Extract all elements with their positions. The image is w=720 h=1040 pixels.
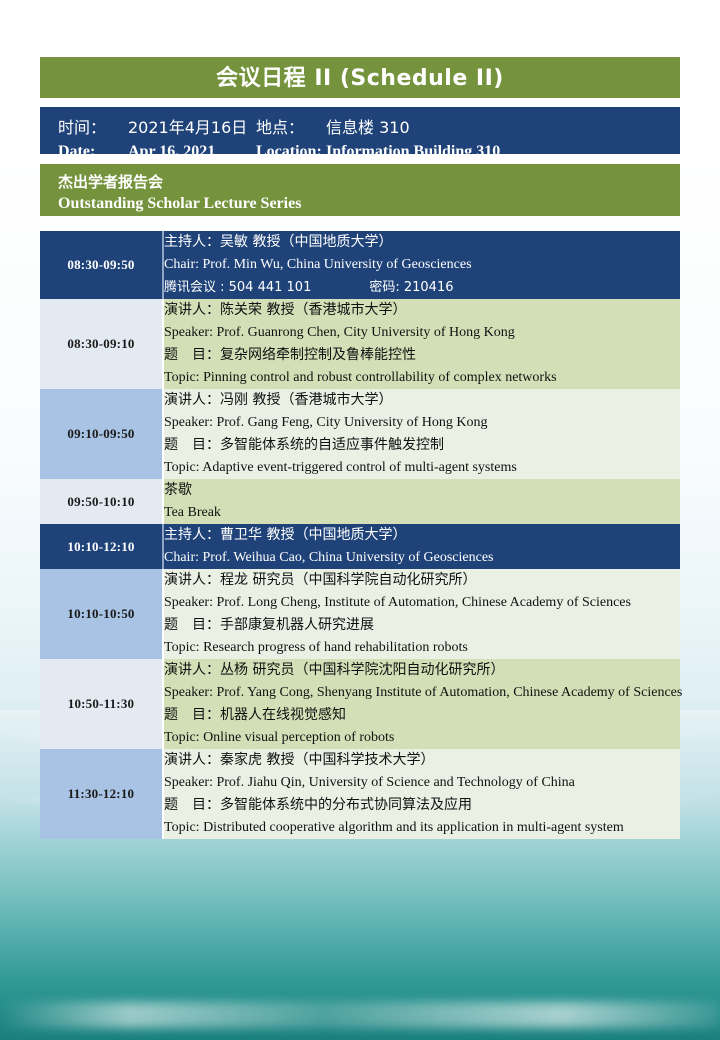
schedule-time-cell: 10:10-10:50	[40, 569, 163, 659]
schedule-detail-cell: 主持人：吴敏 教授（中国地质大学）Chair: Prof. Min Wu, Ch…	[163, 231, 680, 299]
schedule-detail-cell: 主持人：曹卫华 教授（中国地质大学）Chair: Prof. Weihua Ca…	[163, 524, 680, 569]
schedule-detail-cell: 演讲人：秦家虎 教授（中国科学技术大学）Speaker: Prof. Jiahu…	[163, 749, 680, 839]
detail-line-cn: 演讲人：秦家虎 教授（中国科学技术大学）	[164, 749, 680, 772]
date-label-en: Date:	[58, 140, 128, 164]
detail-line-en: Speaker: Prof. Guanrong Chen, City Unive…	[164, 322, 680, 344]
section-header-en: Outstanding Scholar Lecture Series	[58, 193, 662, 215]
schedule-row: 10:10-12:10主持人：曹卫华 教授（中国地质大学）Chair: Prof…	[40, 524, 680, 569]
schedule-table: 08:30-09:50主持人：吴敏 教授（中国地质大学）Chair: Prof.…	[40, 231, 680, 839]
detail-line-cn: 主持人：吴敏 教授（中国地质大学）	[164, 231, 680, 254]
section-header: 杰出学者报告会 Outstanding Scholar Lecture Seri…	[40, 164, 680, 216]
location-label-en: Location:	[256, 140, 326, 164]
detail-line-cn: 题 目：手部康复机器人研究进展	[164, 614, 680, 637]
schedule-time-cell: 09:50-10:10	[40, 479, 163, 524]
detail-line-en: Speaker: Prof. Long Cheng, Institute of …	[164, 592, 680, 614]
schedule-row: 10:10-10:50演讲人：程龙 研究员（中国科学院自动化研究所）Speake…	[40, 569, 680, 659]
detail-line-cn: 茶歇	[164, 479, 680, 502]
page-title-text: 会议日程 II (Schedule II)	[216, 66, 504, 91]
schedule-time-cell: 09:10-09:50	[40, 389, 163, 479]
schedule-time-cell: 10:50-11:30	[40, 659, 163, 749]
detail-line-cn: 演讲人：程龙 研究员（中国科学院自动化研究所）	[164, 569, 680, 592]
detail-line-cn: 题 目：多智能体系统的自适应事件触发控制	[164, 434, 680, 457]
detail-line-en: Topic: Distributed cooperative algorithm…	[164, 817, 680, 839]
detail-line-en: Speaker: Prof. Gang Feng, City Universit…	[164, 412, 680, 434]
watermark-foam	[0, 1002, 720, 1028]
detail-line-cn: 主持人：曹卫华 教授（中国地质大学）	[164, 524, 680, 547]
schedule-row: 11:30-12:10演讲人：秦家虎 教授（中国科学技术大学）Speaker: …	[40, 749, 680, 839]
schedule-time-cell: 11:30-12:10	[40, 749, 163, 839]
meeting-platform-label: 腾讯会议 : 504 441 101	[164, 280, 311, 295]
detail-line-en: Chair: Prof. Weihua Cao, China Universit…	[164, 547, 680, 569]
schedule-time-cell: 08:30-09:10	[40, 299, 163, 389]
schedule-row: 08:30-09:10演讲人：陈关荣 教授（香港城市大学）Speaker: Pr…	[40, 299, 680, 389]
schedule-page: 会议日程 II (Schedule II) 时间： 2021年4月16日 地点：…	[40, 0, 680, 839]
detail-line-cn: 题 目：复杂网络牵制控制及鲁棒能控性	[164, 344, 680, 367]
meta-row-english: Date: Apr 16, 2021 Location: Information…	[58, 140, 662, 164]
schedule-detail-cell: 演讲人：程龙 研究员（中国科学院自动化研究所）Speaker: Prof. Lo…	[163, 569, 680, 659]
detail-line-en: Topic: Online visual perception of robot…	[164, 727, 680, 749]
schedule-row: 09:50-10:10茶歇Tea Break	[40, 479, 680, 524]
schedule-row: 10:50-11:30演讲人：丛杨 研究员（中国科学院沈阳自动化研究所）Spea…	[40, 659, 680, 749]
date-label-cn: 时间：	[58, 116, 128, 140]
schedule-row: 09:10-09:50演讲人：冯刚 教授（香港城市大学）Speaker: Pro…	[40, 389, 680, 479]
meeting-info-line: 腾讯会议 : 504 441 101密码: 210416	[164, 276, 680, 299]
detail-line-cn: 题 目：多智能体系统中的分布式协同算法及应用	[164, 794, 680, 817]
meeting-password: 密码: 210416	[369, 280, 453, 295]
detail-line-en: Topic: Research progress of hand rehabil…	[164, 637, 680, 659]
detail-line-cn: 演讲人：陈关荣 教授（香港城市大学）	[164, 299, 680, 322]
schedule-detail-cell: 演讲人：丛杨 研究员（中国科学院沈阳自动化研究所）Speaker: Prof. …	[163, 659, 680, 749]
detail-line-cn: 演讲人：丛杨 研究员（中国科学院沈阳自动化研究所）	[164, 659, 680, 682]
detail-line-en: Tea Break	[164, 502, 680, 524]
page-title: 会议日程 II (Schedule II)	[40, 57, 680, 98]
detail-line-cn: 演讲人：冯刚 教授（香港城市大学）	[164, 389, 680, 412]
schedule-row: 08:30-09:50主持人：吴敏 教授（中国地质大学）Chair: Prof.…	[40, 231, 680, 299]
schedule-detail-cell: 茶歇Tea Break	[163, 479, 680, 524]
date-value-cn: 2021年4月16日	[128, 116, 256, 140]
event-meta-bar: 时间： 2021年4月16日 地点： 信息楼 310 Date: Apr 16,…	[40, 107, 680, 154]
schedule-detail-cell: 演讲人：陈关荣 教授（香港城市大学）Speaker: Prof. Guanron…	[163, 299, 680, 389]
detail-line-en: Topic: Pinning control and robust contro…	[164, 367, 680, 389]
schedule-detail-cell: 演讲人：冯刚 教授（香港城市大学）Speaker: Prof. Gang Fen…	[163, 389, 680, 479]
detail-line-en: Topic: Adaptive event-triggered control …	[164, 457, 680, 479]
date-value-en: Apr 16, 2021	[128, 140, 256, 164]
detail-line-cn: 题 目：机器人在线视觉感知	[164, 704, 680, 727]
location-value-en: Information Building 310	[326, 140, 500, 164]
meta-row-chinese: 时间： 2021年4月16日 地点： 信息楼 310	[58, 116, 662, 140]
schedule-time-cell: 10:10-12:10	[40, 524, 163, 569]
detail-line-en: Speaker: Prof. Yang Cong, Shenyang Insti…	[164, 682, 680, 704]
detail-line-en: Chair: Prof. Min Wu, China University of…	[164, 254, 680, 276]
detail-line-en: Speaker: Prof. Jiahu Qin, University of …	[164, 772, 680, 794]
schedule-table-body: 08:30-09:50主持人：吴敏 教授（中国地质大学）Chair: Prof.…	[40, 231, 680, 839]
schedule-time-cell: 08:30-09:50	[40, 231, 163, 299]
location-label-cn: 地点：	[256, 116, 326, 140]
section-header-cn: 杰出学者报告会	[58, 172, 662, 193]
location-value-cn: 信息楼 310	[326, 116, 410, 140]
